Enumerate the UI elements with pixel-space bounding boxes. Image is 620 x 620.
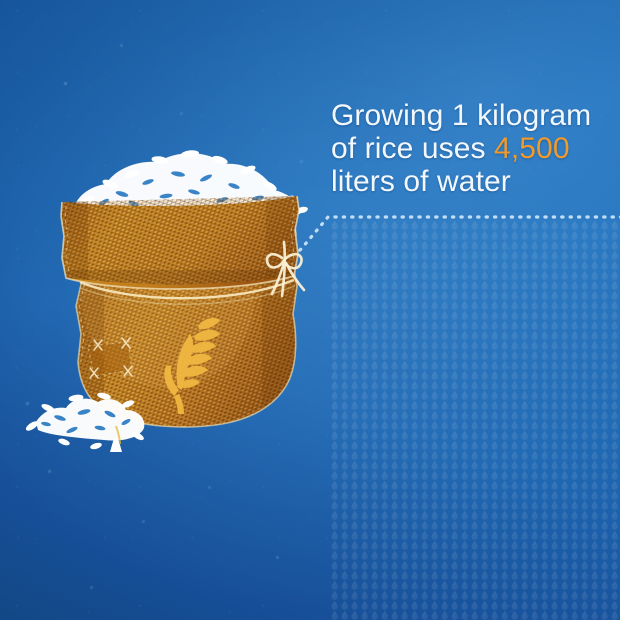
dashed-leader-line: [280, 200, 620, 270]
headline-line-2: of rice uses 4,500: [331, 132, 611, 165]
headline-line-2-prefix: of rice uses: [331, 132, 494, 165]
headline-line-1: Growing 1 kilogram: [331, 99, 611, 132]
headline-accent-value: 4,500: [494, 132, 570, 165]
infographic-canvas: Growing 1 kilogram of rice uses 4,500 li…: [0, 0, 620, 620]
headline-text: Growing 1 kilogram of rice uses 4,500 li…: [331, 99, 611, 198]
water-droplet-grid: [330, 220, 620, 620]
burlap-rice-sack: [18, 130, 328, 470]
headline-line-3: liters of water: [331, 165, 611, 198]
